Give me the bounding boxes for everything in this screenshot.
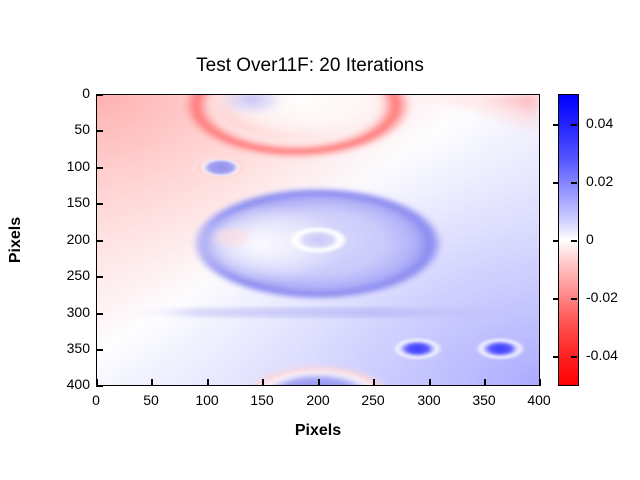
chart-canvas: Test Over11F: 20 Iterations [0,0,640,480]
x-tick-250 [373,379,375,386]
y-tick-100 [96,167,103,169]
y-tick-0 [96,94,103,96]
colorbar-tick-0.02 [553,182,559,184]
x-tick-label-150: 150 [237,392,287,408]
x-tick-100 [207,379,209,386]
y-tick-label-350: 350 [44,340,90,356]
x-tick-label-400: 400 [514,392,564,408]
x-tick-label-250: 250 [348,392,398,408]
chart-title: Test Over11F: 20 Iterations [0,55,620,77]
colorbar-tick-inner--0.04 [571,356,577,358]
colorbar-tick-inner-0 [571,240,577,242]
y-axis-title: Pixels [7,217,25,263]
x-axis-title: Pixels [96,422,540,440]
colorbar-tick-0 [553,240,559,242]
colorbar-label-0.04: 0.04 [586,115,613,131]
y-tick-50 [96,130,103,132]
colorbar-tick--0.04 [553,356,559,358]
colorbar-tick-inner-0.04 [571,124,577,126]
x-tick-50 [151,379,153,386]
y-tick-label-0: 0 [44,85,90,101]
y-tick-label-100: 100 [44,158,90,174]
colorbar-label-0: 0 [586,231,594,247]
x-tick-400 [539,379,541,386]
x-tick-label-200: 200 [293,392,343,408]
x-tick-label-0: 0 [71,392,121,408]
plot-area [96,94,540,386]
y-tick-label-400: 400 [44,376,90,392]
y-tick-200 [96,240,103,242]
colorbar-tick-0.04 [553,124,559,126]
x-tick-300 [429,379,431,386]
x-tick-350 [484,379,486,386]
colorbar-tick-inner-0.02 [571,182,577,184]
y-tick-350 [96,349,103,351]
colorbar-label--0.04: -0.04 [586,347,618,363]
x-tick-label-300: 300 [404,392,454,408]
x-tick-label-50: 50 [126,392,176,408]
y-tick-label-50: 50 [44,121,90,137]
y-tick-label-300: 300 [44,304,90,320]
x-tick-150 [262,379,264,386]
x-tick-label-100: 100 [182,392,232,408]
y-tick-label-200: 200 [44,231,90,247]
colorbar-label-0.02: 0.02 [586,173,613,189]
y-tick-label-250: 250 [44,267,90,283]
heatmap-image [97,95,539,385]
x-tick-0 [96,379,98,386]
colorbar-tick-inner--0.02 [571,298,577,300]
y-tick-250 [96,276,103,278]
y-tick-150 [96,203,103,205]
colorbar-label--0.02: -0.02 [586,289,618,305]
x-tick-label-350: 350 [459,392,509,408]
x-tick-200 [318,379,320,386]
colorbar-tick--0.02 [553,298,559,300]
y-tick-label-150: 150 [44,194,90,210]
y-tick-300 [96,313,103,315]
